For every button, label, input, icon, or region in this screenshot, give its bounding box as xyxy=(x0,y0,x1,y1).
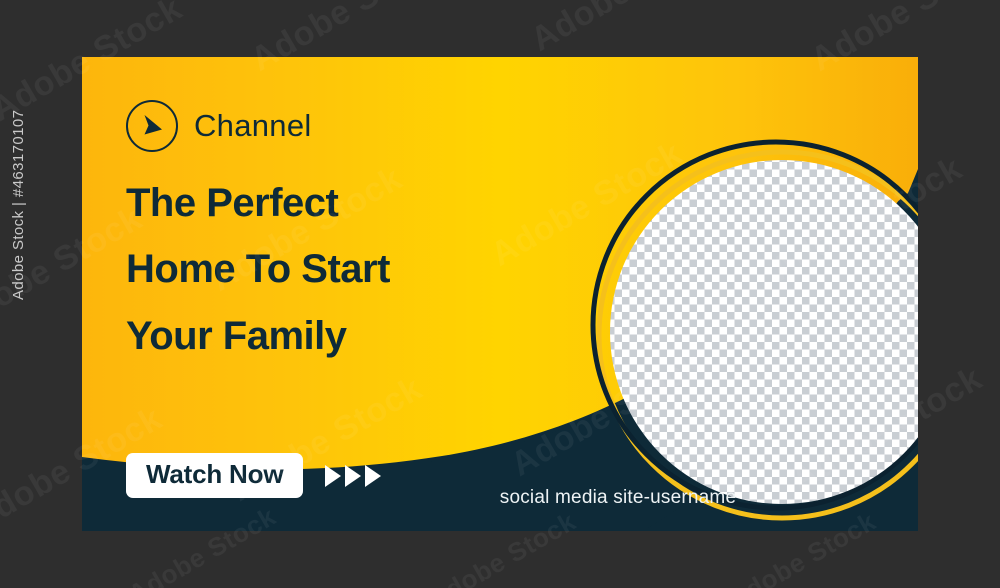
headline-block: The Perfect Home To Start Your Family xyxy=(126,170,556,369)
thumbnail-content: Channel The Perfect Home To Start Your F… xyxy=(82,57,918,531)
social-handle-row: social media site-username xyxy=(82,487,918,509)
watermark-text: Adobe Stock xyxy=(525,0,729,60)
headline-line-3: Your Family xyxy=(126,303,556,369)
brand-name: Channel xyxy=(194,108,312,144)
youtube-thumbnail-canvas: Channel The Perfect Home To Start Your F… xyxy=(82,57,918,531)
triangle-right-icon xyxy=(345,465,361,487)
headline-line-1: The Perfect xyxy=(126,170,556,236)
stock-id-label: Adobe Stock | #463170107 xyxy=(10,20,27,300)
social-handle: social media site-username xyxy=(500,487,736,508)
headline-line-2: Home To Start xyxy=(126,236,556,302)
brand-logo-row[interactable]: Channel xyxy=(126,100,312,152)
arrow-group xyxy=(325,465,381,487)
play-arrow-logo-icon xyxy=(126,100,178,152)
triangle-right-icon xyxy=(365,465,381,487)
triangle-right-icon xyxy=(325,465,341,487)
